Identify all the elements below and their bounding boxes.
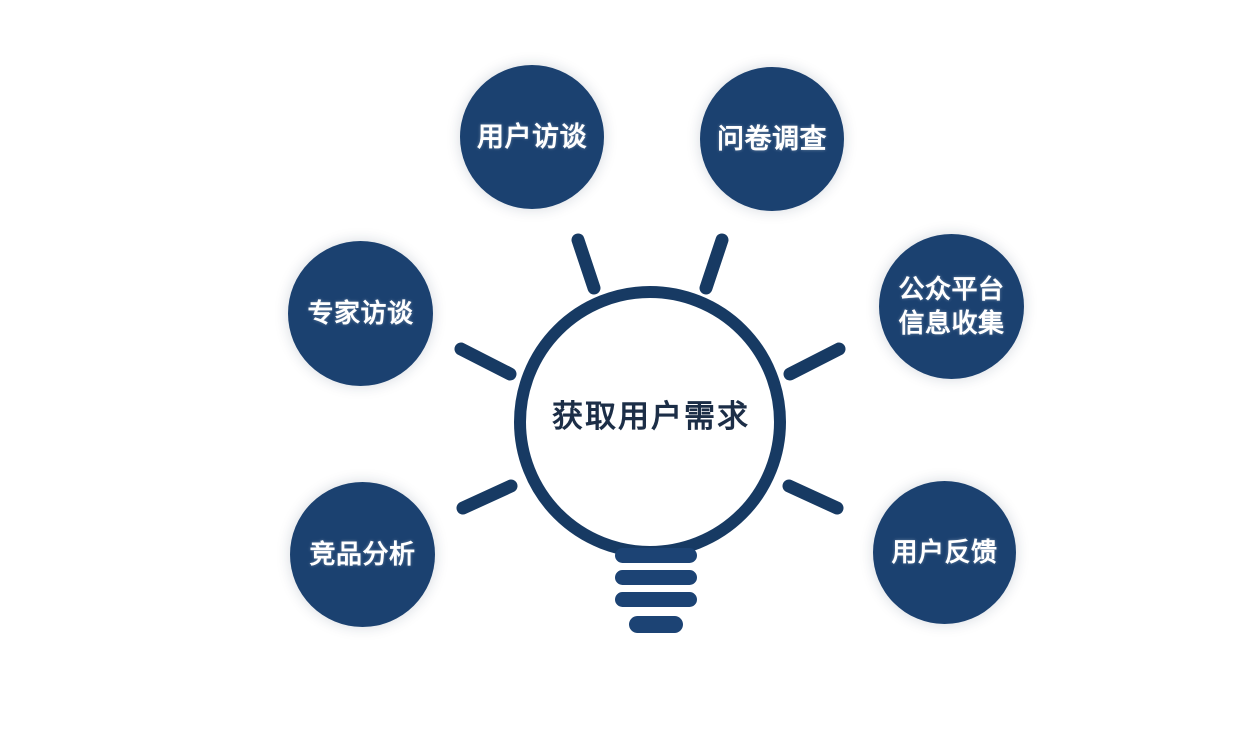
bubble-label: 专家访谈 <box>301 297 419 330</box>
diagram-canvas: 获取用户需求 用户访谈 问卷调查 专家访谈 公众平台 信息收集 竞品分析 用户反… <box>0 0 1242 738</box>
bulb-ray-top-left <box>578 240 594 288</box>
bubble-expert-interview[interactable]: 专家访谈 <box>288 241 433 386</box>
bulb-ray-right-upper <box>790 349 839 374</box>
bulb-ray-left-upper <box>461 349 510 374</box>
bulb-ray-top-right <box>706 240 722 288</box>
bubble-competitor-analysis[interactable]: 竞品分析 <box>290 482 435 627</box>
bubble-label: 竞品分析 <box>303 538 421 571</box>
center-label: 获取用户需求 <box>520 400 782 434</box>
bubble-user-feedback[interactable]: 用户反馈 <box>873 481 1016 624</box>
bubble-questionnaire[interactable]: 问卷调查 <box>700 67 844 211</box>
bulb-ray-left-lower <box>463 486 511 508</box>
bubble-label: 公众平台 信息收集 <box>892 273 1010 340</box>
lightbulb-icon: 获取用户需求 <box>0 0 1242 738</box>
bulb-ray-right-lower <box>789 486 837 508</box>
bulb-glass-outline <box>520 292 780 552</box>
bulb-base <box>615 548 697 633</box>
bubble-public-platform[interactable]: 公众平台 信息收集 <box>879 234 1024 379</box>
bubble-label: 问卷调查 <box>711 122 833 157</box>
bubble-label: 用户反馈 <box>885 536 1003 569</box>
bubble-label: 用户访谈 <box>471 120 593 155</box>
bubble-user-interview[interactable]: 用户访谈 <box>460 65 604 209</box>
